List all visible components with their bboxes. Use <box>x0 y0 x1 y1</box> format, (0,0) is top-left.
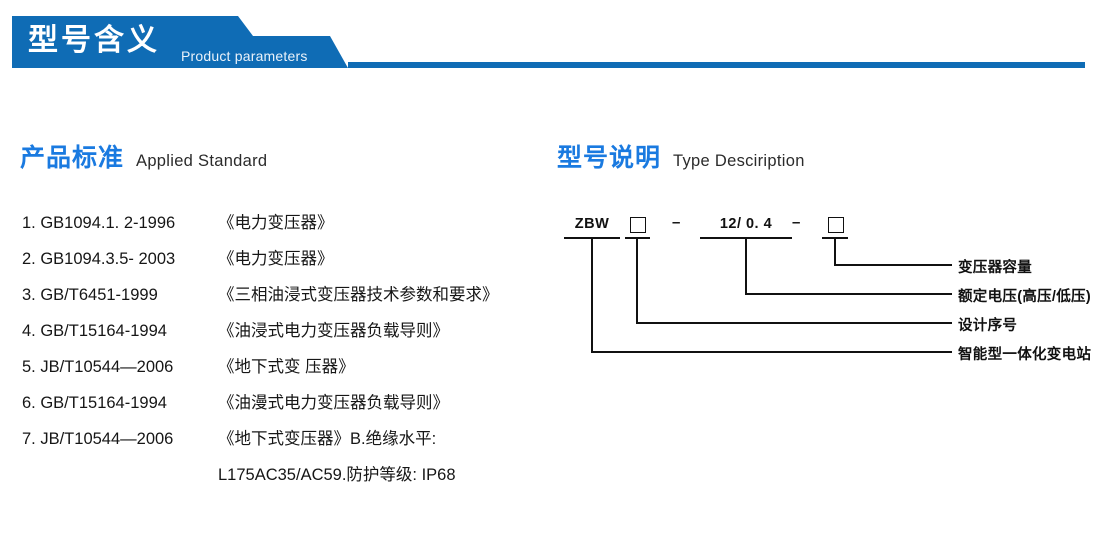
standard-code: 5. JB/T10544—2006 <box>22 358 218 377</box>
label-transformer-capacity: 变压器容量 <box>958 256 1032 277</box>
banner-rule <box>348 62 1085 68</box>
list-item: 2. GB1094.3.5- 2003 《电力变压器》 <box>22 245 542 281</box>
banner-title-cn: 型号含义 <box>28 22 160 60</box>
applied-standard-heading-cn: 产品标准 <box>20 144 124 172</box>
type-description-heading-en: Type Desciription <box>673 152 805 170</box>
list-item: 7. JB/T10544—2006 《地下式变压器》B.绝缘水平: <box>22 425 542 461</box>
list-item: 5. JB/T10544—2006 《地下式变 压器》 <box>22 353 542 389</box>
standard-name: 《油浸式电力变压器负载导则》 <box>218 317 449 341</box>
list-item: 3. GB/T6451-1999 《三相油浸式变压器技术参数和要求》 <box>22 281 542 317</box>
standard-name: 《三相油浸式变压器技术参数和要求》 <box>218 281 499 305</box>
standard-name: 《电力变压器》 <box>218 245 334 269</box>
leader-zbw <box>592 238 952 352</box>
applied-standard-heading: 产品标准Applied Standard <box>20 138 267 174</box>
leader-rated-voltage <box>746 238 952 294</box>
type-designation-diagram: ZBW – 12/ 0. 4 – 变压器容量 额定电压(高压/低压) 设计序号 … <box>540 196 1100 376</box>
standard-code: 4. GB/T15164-1994 <box>22 322 218 341</box>
standard-name: 《油漫式电力变压器负载导则》 <box>218 389 449 413</box>
standards-list: 1. GB1094.1. 2-1996 《电力变压器》 2. GB1094.3.… <box>22 209 542 461</box>
list-item: 4. GB/T15164-1994 《油浸式电力变压器负载导则》 <box>22 317 542 353</box>
type-description-heading-cn: 型号说明 <box>557 144 661 172</box>
list-item: 6. GB/T15164-1994 《油漫式电力变压器负载导则》 <box>22 389 542 425</box>
standard-name: 《地下式变压器》B.绝缘水平: <box>218 425 436 449</box>
standard-code: 3. GB/T6451-1999 <box>22 286 218 305</box>
banner-background-shape <box>0 0 1100 80</box>
label-rated-voltage: 额定电压(高压/低压) <box>958 285 1091 306</box>
header-banner: 型号含义 Product parameters <box>0 0 1100 80</box>
leader-design-sequence <box>637 238 952 323</box>
applied-standard-heading-en: Applied Standard <box>136 152 267 170</box>
label-design-sequence: 设计序号 <box>958 314 1017 335</box>
banner-title-en: Product parameters <box>181 48 308 64</box>
list-item: 1. GB1094.1. 2-1996 《电力变压器》 <box>22 209 542 245</box>
label-smart-integrated-substation: 智能型一体化变电站 <box>958 343 1091 364</box>
type-description-heading: 型号说明Type Desciription <box>557 138 805 174</box>
standard-name: 《电力变压器》 <box>218 209 334 233</box>
standard-name-continuation: L175AC35/AC59.防护等级: IP68 <box>218 461 456 485</box>
standard-code: 2. GB1094.3.5- 2003 <box>22 250 218 269</box>
standard-code: 7. JB/T10544—2006 <box>22 430 218 449</box>
standard-code: 1. GB1094.1. 2-1996 <box>22 214 218 233</box>
standard-code: 6. GB/T15164-1994 <box>22 394 218 413</box>
standard-name: 《地下式变 压器》 <box>218 353 355 377</box>
leader-capacity <box>835 238 952 265</box>
